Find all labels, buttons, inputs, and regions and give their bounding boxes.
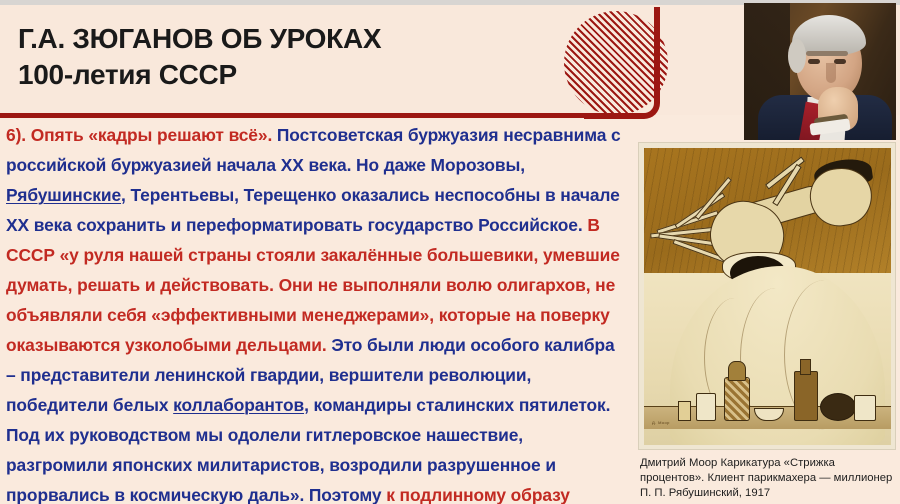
portrait-brow	[806, 51, 848, 56]
caricature-jar-stopper	[728, 361, 746, 381]
caricature-glass-2	[854, 395, 876, 421]
portrait-photo-zyuganov	[744, 3, 896, 140]
caricature-signature: Д. Моор	[652, 420, 670, 425]
caricature-cut-glass-jar	[724, 377, 750, 421]
portrait-eye-left	[808, 59, 820, 64]
caricature-image: Д. Моор	[638, 142, 896, 450]
caricature-caption: Дмитрий Моор Карикатура «Стрижка процент…	[640, 456, 896, 501]
portrait-hair-side	[788, 39, 806, 73]
portrait-nose	[826, 63, 836, 83]
header-divider-rule	[0, 113, 622, 118]
caricature-bottle-neck	[800, 359, 811, 375]
slide-root: Г.А. ЗЮГАНОВ ОБ УРОКАХ 100-летия СССР 6)…	[0, 0, 900, 504]
caricature-sprayer-bulb	[820, 393, 856, 421]
caricature-small-vial	[678, 401, 691, 421]
hatched-circle-shape	[564, 11, 668, 115]
header-decoration	[556, 7, 666, 123]
caricature-canvas: Д. Моор	[644, 148, 891, 445]
body-paragraph: 6). Опять «кадры решают всё». Постсоветс…	[6, 120, 628, 504]
caricature-glass-1	[696, 393, 716, 421]
caricature-bottle	[794, 371, 818, 421]
page-title: Г.А. ЗЮГАНОВ ОБ УРОКАХ 100-летия СССР	[18, 21, 578, 93]
